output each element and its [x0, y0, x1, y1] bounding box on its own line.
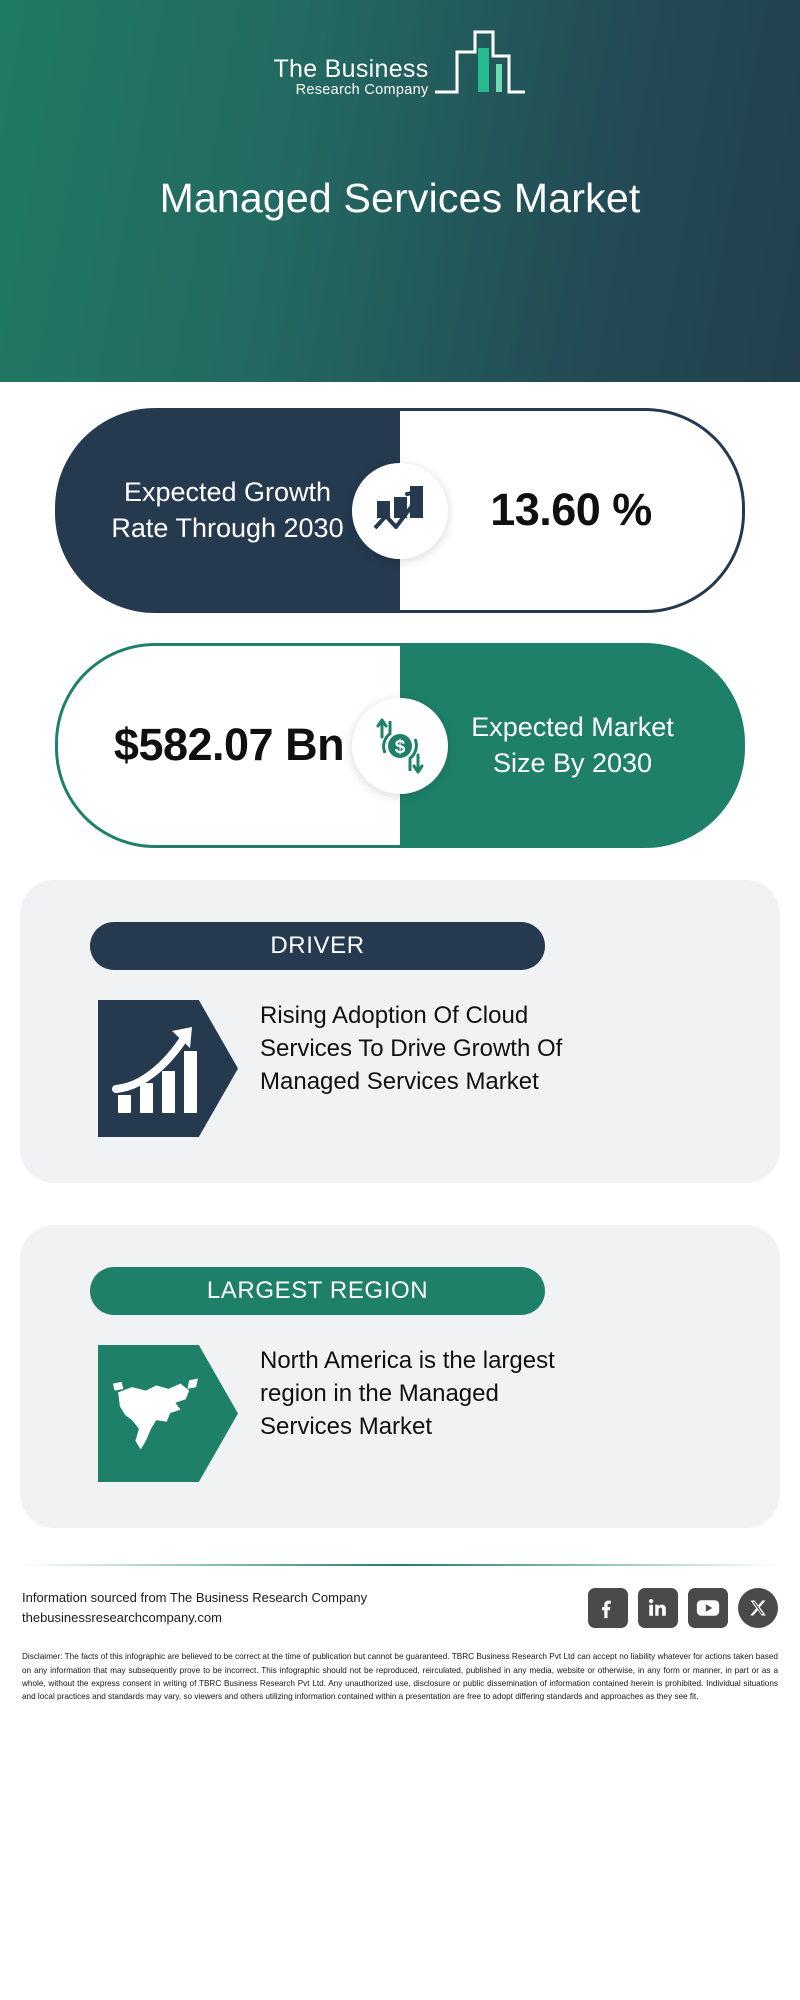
section-largest-region: LARGEST REGION North America is the larg…	[20, 1225, 780, 1528]
spacer-1	[0, 382, 800, 408]
driver-body-text: Rising Adoption Of Cloud Services To Dri…	[260, 1000, 590, 1099]
source-line-1: Information sourced from The Business Re…	[22, 1588, 367, 1608]
section-driver: DRIVER Rising Adoption Of Cloud Services…	[20, 880, 780, 1183]
disclaimer-text: Disclaimer: The facts of this infographi…	[22, 1650, 778, 1703]
youtube-icon[interactable]	[688, 1588, 728, 1628]
stat-label-text: Expected Growth Rate Through 2030	[103, 475, 353, 547]
spacer-4	[0, 1183, 800, 1225]
pill-driver-label: DRIVER	[270, 932, 364, 960]
pill-largest-region: LARGEST REGION	[90, 1267, 545, 1315]
stat-label-panel: Expected Market Size By 2030	[400, 643, 745, 848]
source-website-link[interactable]: thebusinessresearchcompany.com	[22, 1608, 367, 1628]
bar-chart-logo-icon	[431, 26, 527, 98]
logo-line-1: The Business	[273, 57, 428, 82]
infographic-page: The Business Research Company Managed Se…	[0, 0, 800, 2000]
stat-value-panel: 13.60 %	[400, 408, 745, 613]
stat-value-text: $582.07 Bn	[114, 720, 344, 770]
north-america-map-icon	[98, 1345, 238, 1482]
stat-card-growth-rate: Expected Growth Rate Through 2030 13.60 …	[0, 408, 800, 613]
growth-chart-arrow-icon	[352, 463, 448, 559]
pill-driver: DRIVER	[90, 922, 545, 970]
spacer-2	[0, 613, 800, 643]
company-logo: The Business Research Company	[0, 26, 800, 99]
footer: Information sourced from The Business Re…	[0, 1564, 800, 1703]
social-links	[588, 1588, 778, 1628]
stat-card-market-size: $582.07 Bn Expected Market Size By 2030 …	[0, 643, 800, 848]
header-banner: The Business Research Company Managed Se…	[0, 0, 800, 382]
stat-label-panel: Expected Growth Rate Through 2030	[55, 408, 400, 613]
svg-text:$: $	[395, 737, 406, 758]
page-title: Managed Services Market	[0, 175, 800, 222]
logo-line-2: Research Company	[273, 83, 428, 98]
spacer-5	[0, 1528, 800, 1564]
linkedin-icon[interactable]	[638, 1588, 678, 1628]
stat-value-text: 13.60 %	[490, 485, 652, 535]
largest-region-body-text: North America is the largest region in t…	[260, 1345, 590, 1444]
stat-label-text: Expected Market Size By 2030	[448, 710, 698, 782]
spacer-3	[0, 848, 800, 880]
source-attribution: Information sourced from The Business Re…	[22, 1588, 367, 1628]
stat-value-panel: $582.07 Bn	[55, 643, 400, 848]
x-twitter-icon[interactable]	[738, 1588, 778, 1628]
rising-bar-chart-arrow-icon	[98, 1000, 238, 1137]
logo-text-block: The Business Research Company	[273, 57, 428, 100]
pill-largest-region-label: LARGEST REGION	[207, 1277, 428, 1305]
facebook-icon[interactable]	[588, 1588, 628, 1628]
dollar-circulation-icon: $	[352, 698, 448, 794]
